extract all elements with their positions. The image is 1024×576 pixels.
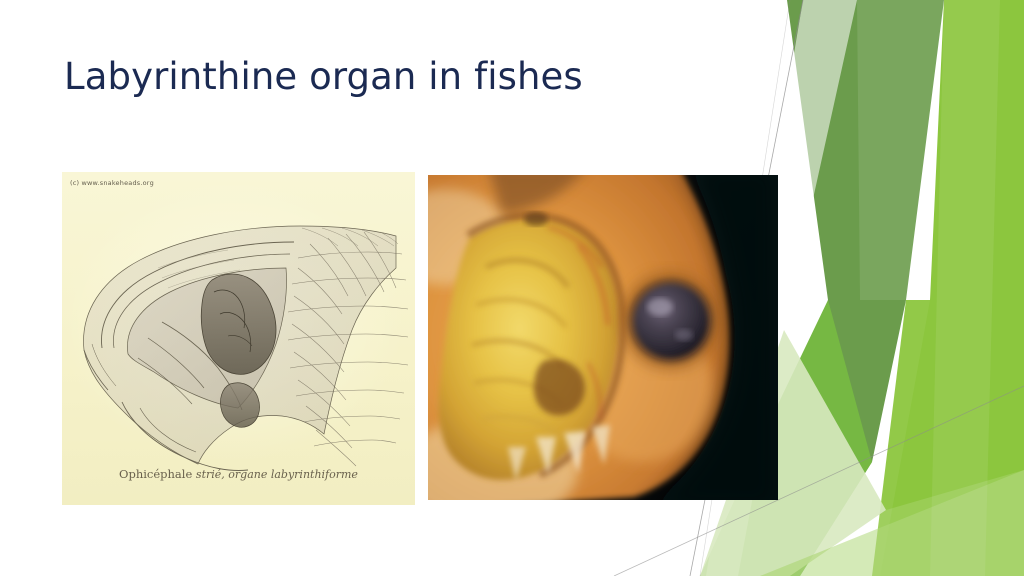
fish-head-photograph	[428, 175, 778, 500]
photo-eye	[634, 284, 708, 358]
engraving-caption: Ophicéphale strié, organe labyrinthiform…	[62, 467, 415, 481]
decor-shape-light-bottom	[760, 470, 1024, 576]
photo-nostril	[524, 212, 548, 226]
slide-title: Labyrinthine organ in fishes	[64, 55, 764, 99]
engraving-caption-roman: Ophicéphale	[119, 467, 192, 481]
decor-shape-olive-main	[766, 0, 944, 576]
engraving-caption-italic: strié, organe labyrinthiforme	[196, 468, 358, 481]
figure-fish-head-photo[interactable]	[428, 175, 778, 500]
decor-shape-wash-1	[857, 0, 944, 300]
presentation-slide: Labyrinthine organ in fishes	[0, 0, 1024, 576]
decor-shape-bright-right	[880, 0, 1024, 576]
decor-shape-wash-2	[930, 0, 1000, 576]
decor-shape-bright-lower	[872, 300, 1024, 576]
engraving-illustration	[62, 172, 415, 505]
photo-eye-highlight-2	[675, 329, 693, 341]
engraving-watermark: (c) www.snakeheads.org	[70, 179, 154, 187]
photo-eye-highlight	[647, 298, 673, 316]
figure-antique-engraving[interactable]: (c) www.snakeheads.org Ophicéphale strié…	[62, 172, 415, 505]
decor-shape-wash-3	[790, 470, 1024, 576]
